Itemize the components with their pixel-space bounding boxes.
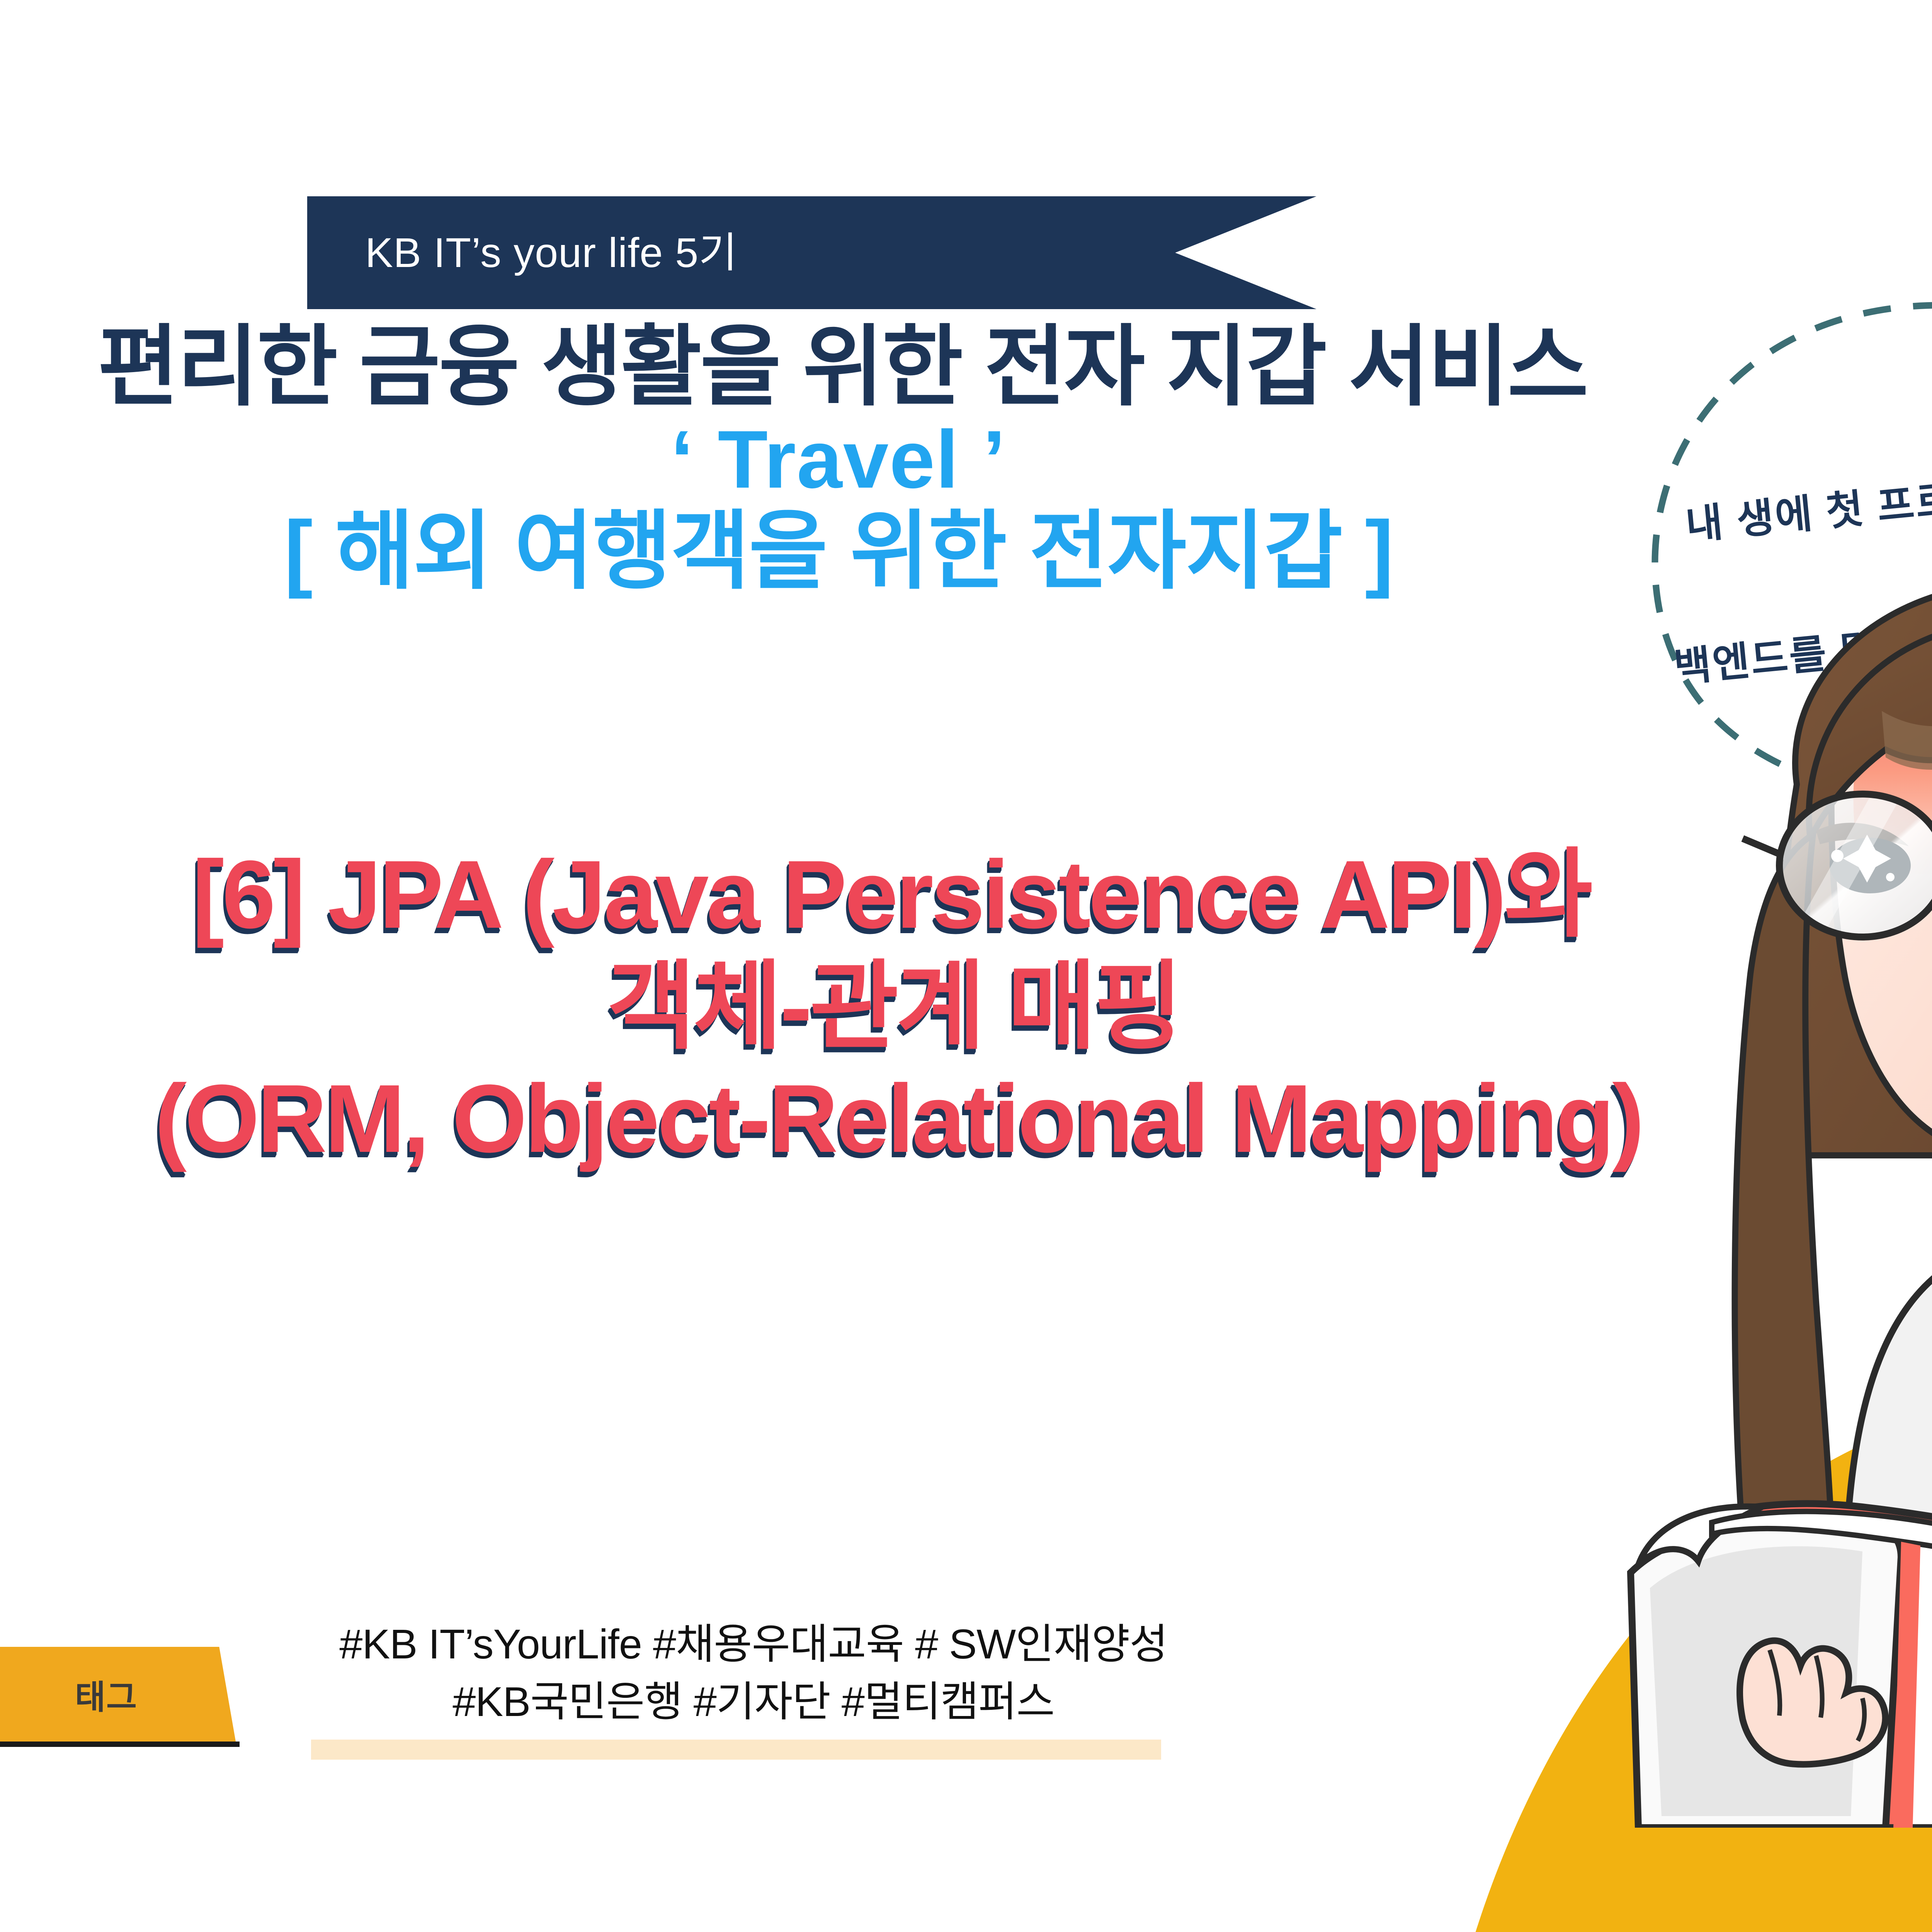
headline-line-2-service-name: ‘ Travel ’ bbox=[0, 414, 1662, 504]
headline-block: 편리한 금융 생활을 위한 전자 지갑 서비스 ‘ Travel ’ [ 해외 … bbox=[0, 321, 1662, 599]
hashtag-block: #KB IT’sYourLife #채용우대교육 # SW인재양성 #KB국민은… bbox=[193, 1615, 1314, 1730]
poster-canvas: KB IT’s your life 5기 편리한 금융 생활을 위한 전자 지갑… bbox=[0, 0, 1932, 1825]
headline-line-3-subtitle: [ 해외 여행객을 위한 전자지갑 ] bbox=[0, 504, 1662, 599]
main-title-block: [6] JPA (Java Persistence API)와 객체-관계 매핑… bbox=[0, 838, 1797, 1175]
hashtag-line-2: #KB국민은행 #기자단 #멀티캠퍼스 bbox=[193, 1673, 1314, 1730]
woman-reading-book-illustration bbox=[1615, 568, 1932, 1828]
hashtag-line-1: #KB IT’sYourLife #채용우대교육 # SW인재양성 bbox=[193, 1615, 1314, 1673]
main-title-line-2: 객체-관계 매핑 bbox=[0, 951, 1792, 1063]
tag-chip-underline bbox=[0, 1742, 240, 1747]
speech-bubble-line-1: 내 생에 첫 프로젝트! bbox=[1683, 458, 1932, 551]
program-ribbon-banner: KB IT’s your life 5기 bbox=[307, 196, 1316, 309]
main-title-line-1: [6] JPA (Java Persistence API)와 bbox=[0, 838, 1790, 951]
cream-underline-bar bbox=[311, 1740, 1161, 1760]
ribbon-label: KB IT’s your life 5기 bbox=[307, 232, 738, 274]
main-title-line-3: (ORM, Object-Relational Mapping) bbox=[0, 1063, 1797, 1175]
character-illustration bbox=[1615, 568, 1932, 1828]
headline-line-1: 편리한 금융 생활을 위한 전자 지갑 서비스 bbox=[0, 321, 1662, 414]
